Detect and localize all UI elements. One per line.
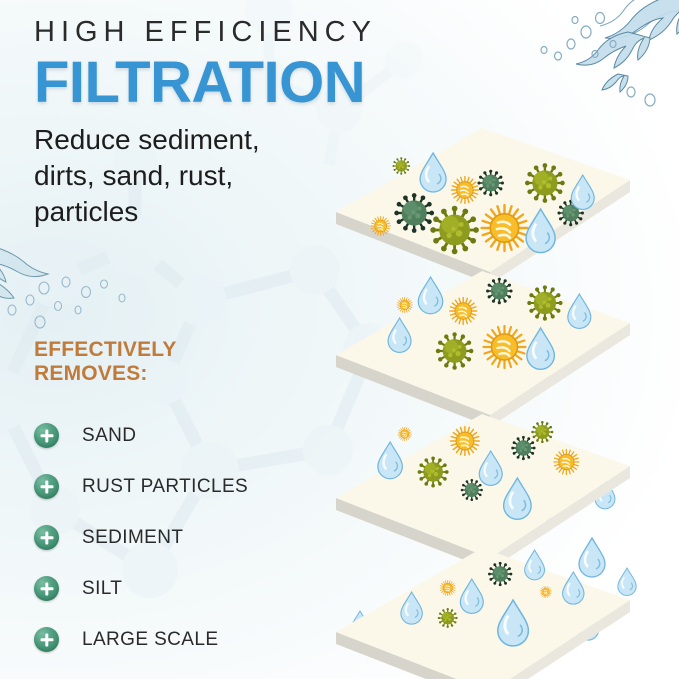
list-item: RUST PARTICLES [34, 461, 314, 512]
sediment-particle-icon [398, 427, 411, 440]
removes-heading-line-2: REMOVES: [34, 362, 314, 386]
virus-green-icon [511, 436, 535, 460]
virus-green-icon [477, 170, 504, 197]
water-droplet-icon [418, 277, 442, 314]
list-item: LARGE SCALE [34, 614, 314, 665]
water-droplet-icon [420, 153, 446, 192]
virus-green-icon [394, 193, 434, 233]
plus-badge-icon [34, 576, 59, 601]
list-item-label: SILT [82, 578, 122, 600]
virus-olive-icon [436, 332, 474, 370]
list-item: SAND [34, 410, 314, 461]
virus-olive-icon [527, 285, 562, 320]
list-item: SEDIMENT [34, 512, 314, 563]
virus-olive-icon [531, 421, 553, 443]
list-item-label: SEDIMENT [82, 527, 183, 549]
water-droplet-icon [527, 328, 555, 369]
water-droplet-icon [388, 318, 411, 352]
removes-list: SANDRUST PARTICLESSEDIMENTSILTLARGE SCAL… [34, 410, 314, 665]
virus-green-icon [488, 562, 512, 586]
sediment-particle-icon [451, 427, 480, 456]
list-item-label: LARGE SCALE [82, 629, 218, 651]
infographic-canvas: HIGH EFFICIENCY FILTRATION Reduce sedime… [0, 0, 679, 679]
sediment-particle-icon [540, 586, 551, 597]
list-item-label: RUST PARTICLES [82, 476, 248, 498]
water-droplet-icon [479, 451, 502, 485]
virus-olive-icon [525, 163, 565, 203]
virus-green-icon [461, 479, 483, 501]
filter-layer-4 [330, 520, 679, 679]
water-droplet-icon [378, 442, 402, 479]
list-item-label: SAND [82, 425, 136, 447]
water-droplet-icon [460, 579, 483, 613]
water-droplet-icon [498, 600, 529, 646]
removes-heading: EFFECTIVELY REMOVES: [34, 338, 314, 385]
effectively-removes-block: EFFECTIVELY REMOVES: SANDRUST PARTICLESS… [34, 338, 314, 665]
sediment-particle-icon [371, 216, 390, 235]
virus-green-icon [486, 278, 513, 305]
sediment-particle-icon [483, 326, 525, 368]
plus-badge-icon [34, 474, 59, 499]
removes-heading-line-1: EFFECTIVELY [34, 338, 314, 362]
plus-badge-icon [34, 423, 59, 448]
water-droplet-icon [504, 478, 532, 519]
water-droplet-icon [563, 572, 584, 604]
virus-olive-icon [438, 608, 458, 628]
water-droplet-icon [525, 550, 545, 580]
list-item: SILT [34, 563, 314, 614]
filter-stack-illustration [330, 100, 679, 679]
water-splash-left-icon [0, 236, 142, 331]
sediment-particle-icon [452, 177, 479, 204]
sediment-particle-icon [554, 450, 579, 475]
water-droplet-icon [401, 592, 422, 624]
water-droplet-icon [571, 175, 594, 209]
sediment-particle-icon [440, 580, 455, 595]
contaminant-group [330, 520, 679, 679]
eyebrow-text: HIGH EFFICIENCY [34, 18, 434, 47]
sediment-particle-icon [397, 297, 412, 312]
sediment-particle-icon [450, 298, 477, 325]
plus-badge-icon [34, 627, 59, 652]
virus-olive-icon [418, 457, 449, 488]
virus-olive-icon [392, 157, 410, 175]
water-droplet-icon [568, 294, 591, 328]
plus-badge-icon [34, 525, 59, 550]
